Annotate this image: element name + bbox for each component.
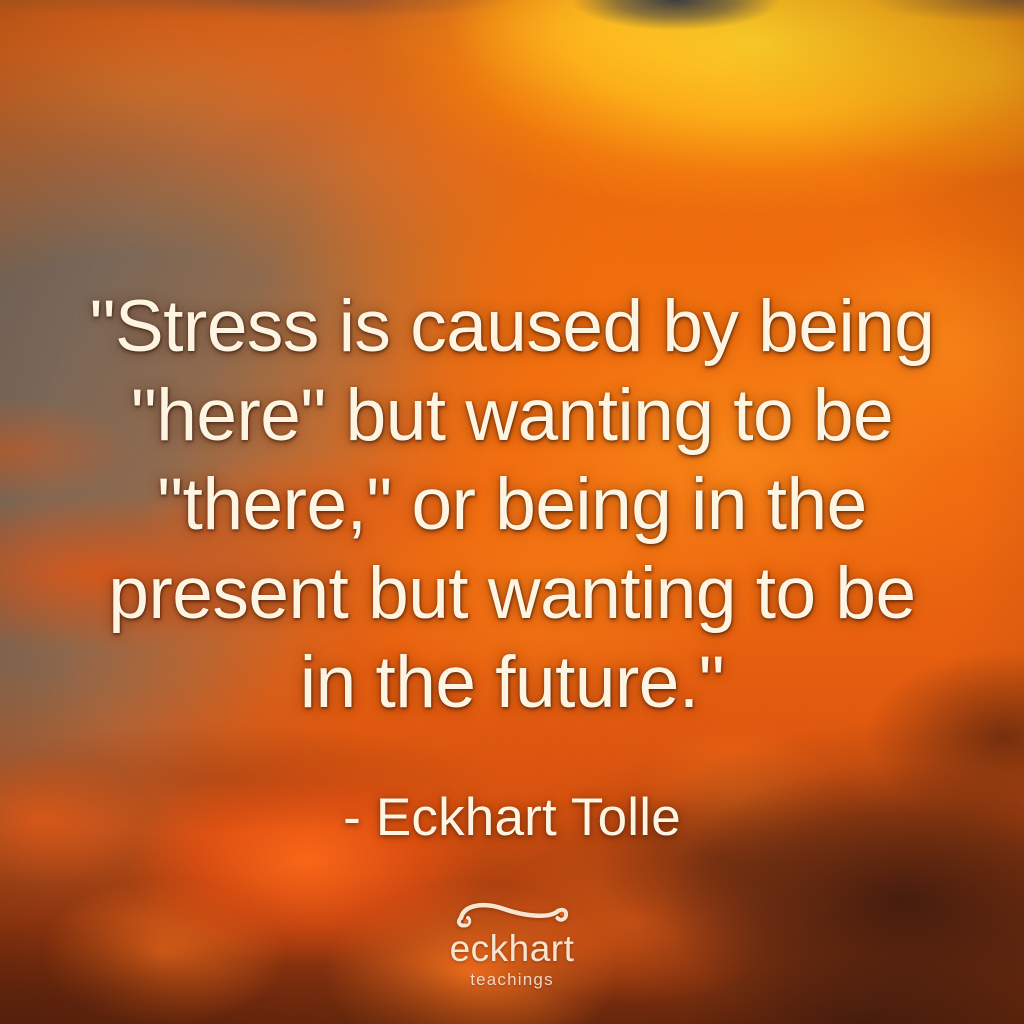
logo-tagline: teachings — [470, 970, 554, 990]
quote-image-canvas: "Stress is caused by being "here" but wa… — [0, 0, 1024, 1024]
quote-line-5: in the future." — [34, 638, 990, 727]
quote-line-4: present but wanting to be — [34, 549, 990, 638]
overlay-content: "Stress is caused by being "here" but wa… — [0, 0, 1024, 1024]
quote-line-1: "Stress is caused by being — [34, 282, 990, 371]
eckhart-teachings-logo: eckhart teachings — [412, 900, 612, 990]
quote-attribution: - Eckhart Tolle — [0, 787, 1024, 849]
quote-line-2: "here" but wanting to be — [34, 371, 990, 460]
logo-wordmark: eckhart — [450, 929, 575, 969]
quote-line-3: "there," or being in the — [34, 460, 990, 549]
quote-text-block: "Stress is caused by being "here" but wa… — [0, 282, 1024, 727]
eckhart-swoosh-icon — [451, 900, 573, 930]
